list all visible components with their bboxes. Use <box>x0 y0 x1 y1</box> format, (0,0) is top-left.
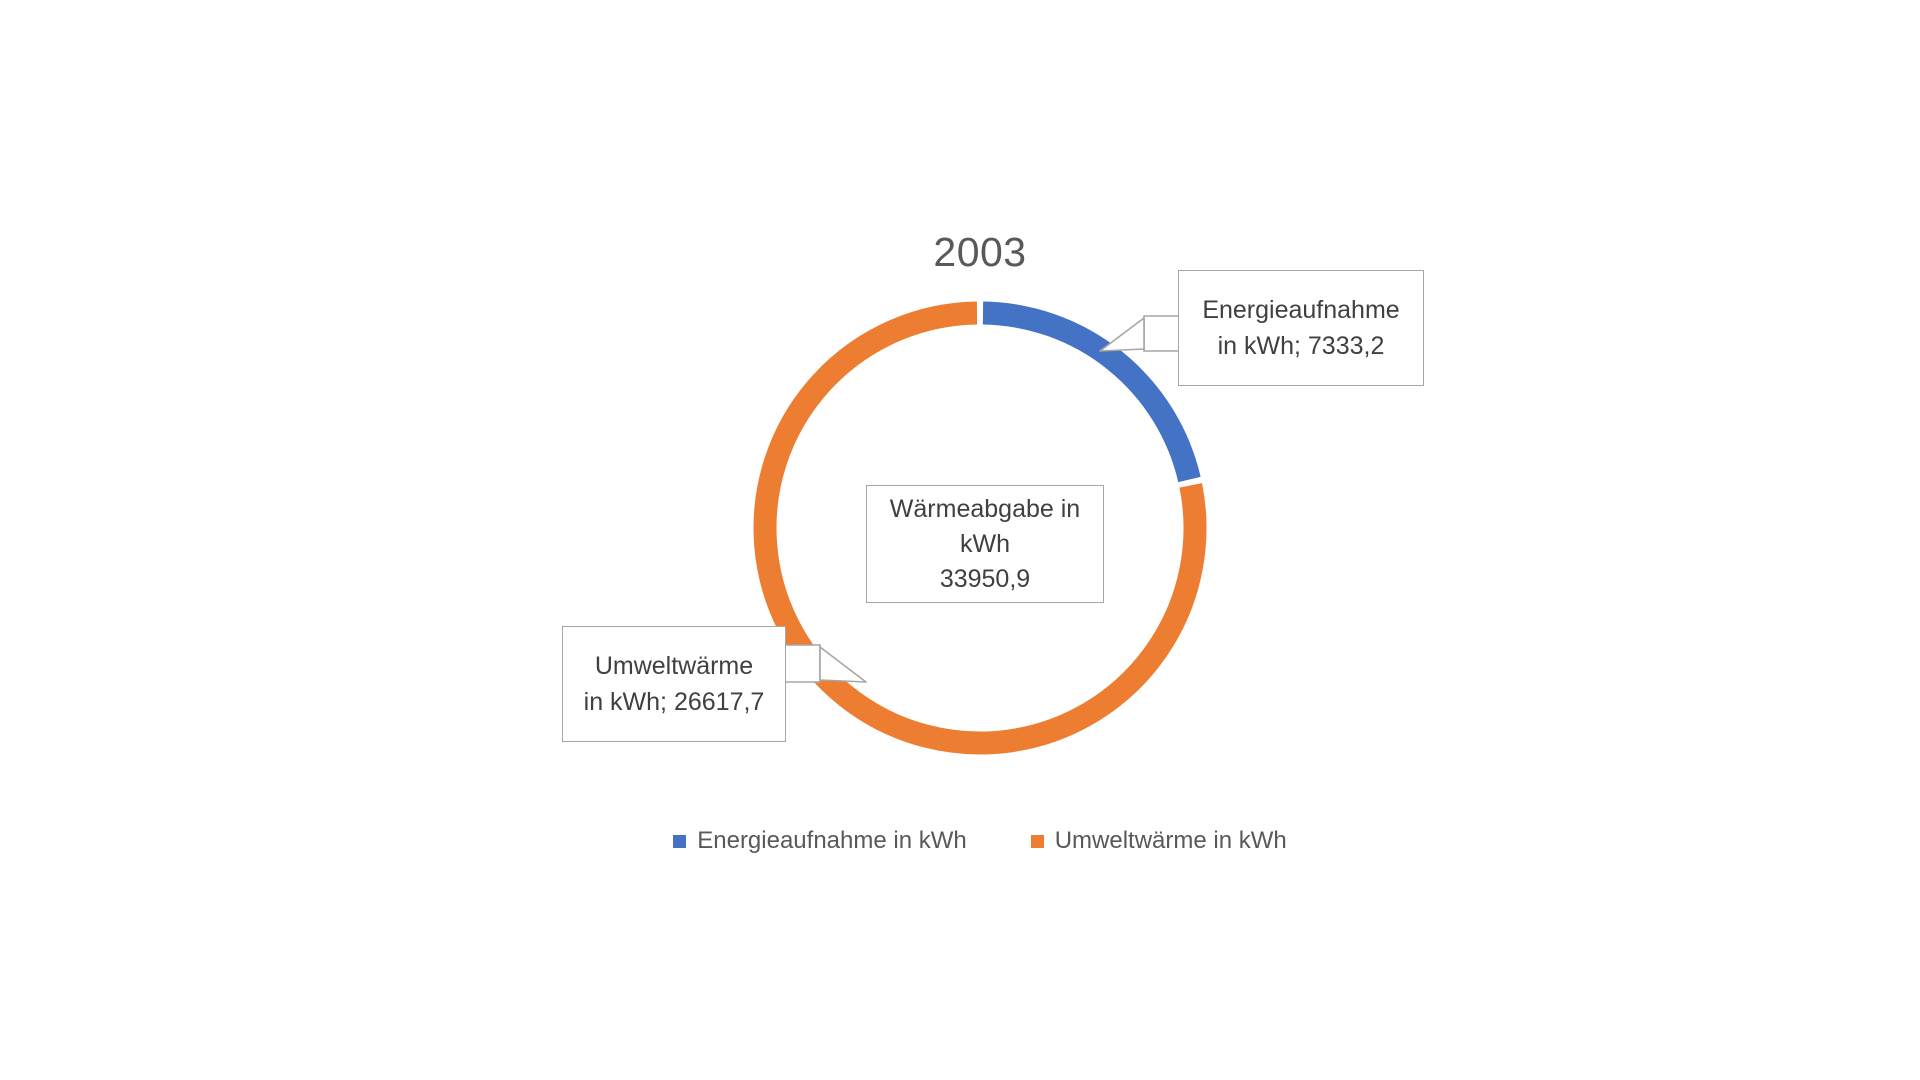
donut-chart: 2003 Energieaufnahme in kWh; 7333,2 Umwe… <box>0 0 1920 1080</box>
data-label-umweltwaerme-line1: Umweltwärme <box>595 648 753 684</box>
legend-label-umweltwaerme: Umweltwärme in kWh <box>1055 826 1287 856</box>
legend-label-energieaufnahme: Energieaufnahme in kWh <box>697 826 966 856</box>
legend-item-umweltwaerme[interactable]: Umweltwärme in kWh <box>1031 826 1287 856</box>
legend-swatch-umweltwaerme <box>1031 835 1044 848</box>
legend-swatch-energieaufnahme <box>673 835 686 848</box>
center-total-label[interactable]: Wärmeabgabe in kWh 33950,9 <box>866 485 1104 603</box>
chart-title: 2003 <box>0 228 1920 276</box>
center-total-label-line2: kWh <box>960 527 1010 562</box>
data-label-energieaufnahme-line2: in kWh; 7333,2 <box>1218 328 1385 364</box>
legend-item-energieaufnahme[interactable]: Energieaufnahme in kWh <box>673 826 966 856</box>
donut-slice-energieaufnahme[interactable] <box>983 313 1189 479</box>
center-total-label-line1: Wärmeabgabe in <box>890 492 1080 527</box>
center-total-label-line3: 33950,9 <box>940 562 1030 597</box>
data-label-energieaufnahme-line1: Energieaufnahme <box>1202 292 1399 328</box>
chart-legend: Energieaufnahme in kWh Umweltwärme in kW… <box>0 826 1920 856</box>
data-label-umweltwaerme-line2: in kWh; 26617,7 <box>584 684 765 720</box>
data-label-energieaufnahme[interactable]: Energieaufnahme in kWh; 7333,2 <box>1178 270 1424 386</box>
data-label-umweltwaerme[interactable]: Umweltwärme in kWh; 26617,7 <box>562 626 786 742</box>
